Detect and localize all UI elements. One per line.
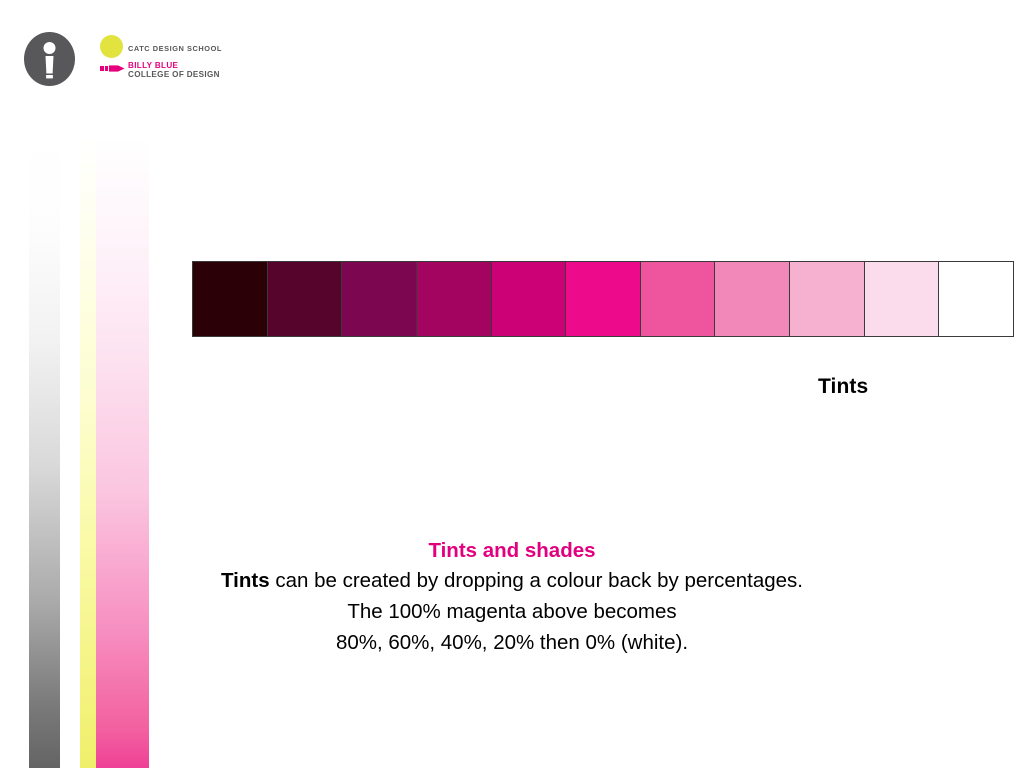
tint-swatch <box>417 262 492 336</box>
tint-swatch <box>641 262 716 336</box>
brand-logo: CATC DESIGN SCHOOL BILLY BLUE COLLEGE OF… <box>24 31 204 89</box>
gray-gradient-bar <box>29 139 60 768</box>
tint-swatch <box>342 262 417 336</box>
tint-swatch <box>566 262 641 336</box>
caption-heading: Tints and shades <box>0 536 1024 565</box>
magenta-tint-shade-strip <box>192 261 1014 337</box>
tint-swatch <box>939 262 1013 336</box>
caption-line-3: 80%, 60%, 40%, 20% then 0% (white). <box>0 627 1024 658</box>
pencil-icon <box>100 64 126 73</box>
tint-swatch <box>193 262 268 336</box>
magenta-gradient-bar <box>96 139 149 768</box>
tint-swatch <box>268 262 343 336</box>
tints-label: Tints <box>818 375 868 399</box>
caption-line-2: The 100% magenta above becomes <box>0 596 1024 627</box>
logo-billy-blue-block: BILLY BLUE COLLEGE OF DESIGN <box>128 62 220 79</box>
tint-swatch <box>715 262 790 336</box>
logo-college-text: COLLEGE OF DESIGN <box>128 71 220 80</box>
tint-swatch <box>492 262 567 336</box>
tint-swatch <box>790 262 865 336</box>
yellow-gradient-bar <box>80 139 96 768</box>
catc-roundel-icon <box>24 32 75 86</box>
caption-line-1: Tints can be created by dropping a colou… <box>0 565 1024 596</box>
tint-swatch <box>865 262 940 336</box>
caption-line-1-strong: Tints <box>221 569 270 592</box>
yellow-dot-icon <box>100 35 123 58</box>
logo-catc-text: CATC DESIGN SCHOOL <box>128 44 222 53</box>
caption-line-1-rest: can be created by dropping a colour back… <box>270 569 803 592</box>
caption-block: Tints and shades Tints can be created by… <box>0 536 1024 658</box>
